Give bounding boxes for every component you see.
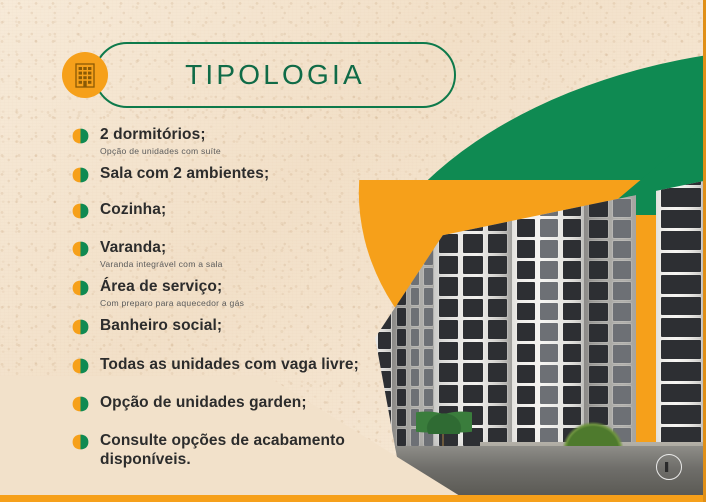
pause-badge-icon[interactable] <box>656 454 682 480</box>
tower-far-right <box>656 160 706 450</box>
leaf-bullet-icon <box>72 128 89 144</box>
feature-list: 2 dormitórios; Opção de unidades com suí… <box>72 126 372 478</box>
list-item: Área de serviço; Com preparo para aquece… <box>72 278 372 308</box>
pause-glyph <box>665 462 673 472</box>
list-item-label: Área de serviço; <box>100 278 372 296</box>
list-item-sublabel: Varanda integrável com a sala <box>100 259 372 269</box>
tower-center-right <box>512 160 586 450</box>
leaf-bullet-icon <box>72 241 89 257</box>
list-item-label: Sala com 2 ambientes; <box>100 165 372 183</box>
list-item-sublabel: Com preparo para aquecedor a gás <box>100 298 372 308</box>
leaf-bullet-icon <box>72 280 89 296</box>
leaf-bullet-icon <box>72 396 89 412</box>
tower-right-dark <box>584 172 636 450</box>
leaf-bullet-icon <box>72 319 89 335</box>
leaf-bullet-icon <box>72 434 89 450</box>
list-item-label: Todas as unidades com vaga livre; <box>100 356 372 374</box>
list-item-label: Varanda; <box>100 239 372 257</box>
list-item-label: Cozinha; <box>100 201 372 219</box>
list-item-label: Opção de unidades garden; <box>100 394 372 412</box>
list-item: Consulte opções de acabamento disponívei… <box>72 432 372 469</box>
list-item: Cozinha; <box>72 201 372 219</box>
leaf-bullet-icon <box>72 167 89 183</box>
bottom-orange-bar <box>0 495 706 502</box>
leaf-bullet-icon <box>72 203 89 219</box>
slide-canvas: TIPOLOGIA 2 dormitórios; Opção de unidad… <box>0 0 706 502</box>
list-item-label: 2 dormitórios; <box>100 126 372 144</box>
list-item: Opção de unidades garden; <box>72 394 372 412</box>
list-item: Varanda; Varanda integrável com a sala <box>72 239 372 269</box>
list-item-sublabel: Opção de unidades com suíte <box>100 146 372 156</box>
building-icon <box>75 63 95 88</box>
list-item: 2 dormitórios; Opção de unidades com suí… <box>72 126 372 156</box>
list-item: Todas as unidades com vaga livre; <box>72 356 372 374</box>
page-title: TIPOLOGIA <box>94 42 456 108</box>
leaf-bullet-icon <box>72 358 89 374</box>
list-item: Sala com 2 ambientes; <box>72 165 372 183</box>
list-item-label: Consulte opções de acabamento disponívei… <box>100 432 360 469</box>
list-item: Banheiro social; <box>72 317 372 335</box>
list-item-label: Banheiro social; <box>100 317 372 335</box>
